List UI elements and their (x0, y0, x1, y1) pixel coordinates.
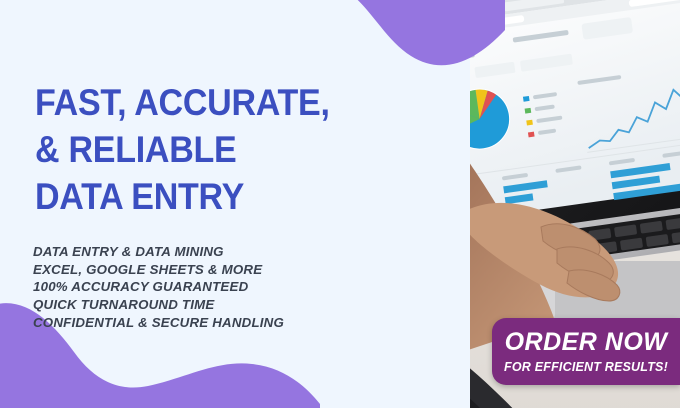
cta-main-label: ORDER NOW (505, 330, 668, 355)
feature-item: DATA ENTRY & DATA MINING (33, 243, 284, 261)
order-now-button[interactable]: ORDER NOW FOR EFFICIENT RESULTS! (492, 318, 680, 385)
page-title: FAST, ACCURATE, & RELIABLE DATA ENTRY (35, 80, 311, 221)
feature-item: EXCEL, GOOGLE SHEETS & MORE (33, 261, 284, 279)
headline-line-1: FAST, ACCURATE, (35, 80, 311, 127)
feature-item: CONFIDENTIAL & SECURE HANDLING (33, 314, 284, 332)
headline-line-3: DATA ENTRY (35, 174, 311, 221)
feature-item: 100% ACCURACY GUARANTEED (33, 278, 284, 296)
feature-item: QUICK TURNAROUND TIME (33, 296, 284, 314)
feature-list: DATA ENTRY & DATA MINING EXCEL, GOOGLE S… (33, 243, 284, 331)
cta-sub-label: FOR EFFICIENT RESULTS! (504, 361, 668, 374)
promotional-banner: FAST, ACCURATE, & RELIABLE DATA ENTRY DA… (0, 0, 680, 408)
headline-line-2: & RELIABLE (35, 127, 311, 174)
